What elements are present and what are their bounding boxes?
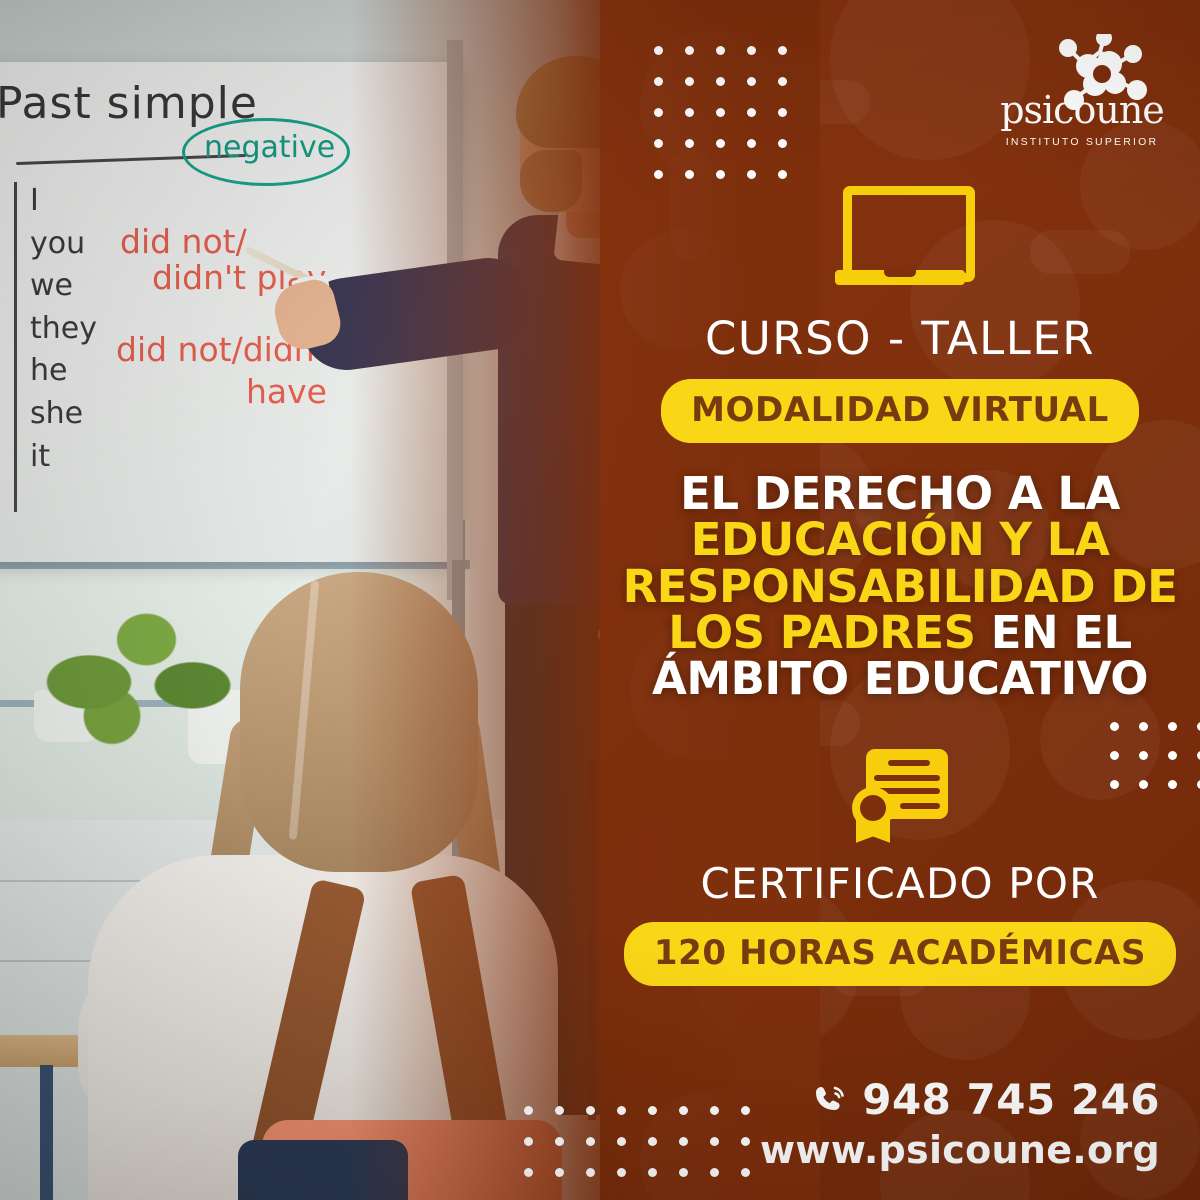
dot bbox=[710, 1106, 719, 1115]
dot bbox=[741, 1106, 750, 1115]
dot bbox=[524, 1137, 533, 1146]
dot bbox=[741, 1137, 750, 1146]
modality-badge: MODALIDAD VIRTUAL bbox=[661, 379, 1139, 443]
dot bbox=[617, 1106, 626, 1115]
hours-badge: 120 HORAS ACADÉMICAS bbox=[624, 922, 1176, 986]
certificate-seal bbox=[852, 787, 894, 829]
certificate-icon bbox=[852, 745, 948, 843]
dot bbox=[679, 1168, 688, 1177]
contact-block: 948 745 246 www.psicoune.org bbox=[760, 1075, 1160, 1172]
dot bbox=[555, 1137, 564, 1146]
dot bbox=[741, 1168, 750, 1177]
headline-line-2: EDUCACIÓN Y LA bbox=[620, 517, 1180, 563]
dot bbox=[617, 1168, 626, 1177]
laptop-notch bbox=[884, 270, 916, 277]
headline-line-4: LOS PADRES EN EL bbox=[620, 610, 1180, 656]
website-url[interactable]: www.psicoune.org bbox=[760, 1128, 1160, 1172]
phone-row[interactable]: 948 745 246 bbox=[760, 1075, 1160, 1124]
dot bbox=[524, 1168, 533, 1177]
dot-grid-bottom bbox=[524, 1106, 750, 1177]
phone-ringing-icon bbox=[810, 1080, 850, 1120]
headline-line-5: ÁMBITO EDUCATIVO bbox=[620, 656, 1180, 702]
page-title: EL DERECHO A LA EDUCACIÓN Y LA RESPONSAB… bbox=[620, 471, 1180, 703]
laptop-screen bbox=[843, 186, 975, 282]
course-kicker: CURSO - TALLER bbox=[620, 312, 1180, 365]
laptop-icon bbox=[835, 186, 965, 290]
certificate-line bbox=[888, 760, 930, 766]
dot bbox=[648, 1137, 657, 1146]
dot bbox=[710, 1137, 719, 1146]
dot bbox=[555, 1106, 564, 1115]
dot bbox=[679, 1106, 688, 1115]
dot bbox=[586, 1106, 595, 1115]
headline-line-1: EL DERECHO A LA bbox=[620, 471, 1180, 517]
dot bbox=[555, 1168, 564, 1177]
dot bbox=[710, 1168, 719, 1177]
certificate-line bbox=[874, 775, 940, 781]
promo-poster: Past simple negative Iyouwetheyhesheit d… bbox=[0, 0, 1200, 1200]
dot bbox=[648, 1168, 657, 1177]
dot bbox=[586, 1168, 595, 1177]
dot bbox=[586, 1137, 595, 1146]
dot bbox=[617, 1137, 626, 1146]
dot bbox=[524, 1106, 533, 1115]
certification-label: CERTIFICADO POR bbox=[620, 859, 1180, 908]
promo-content: CURSO - TALLER MODALIDAD VIRTUAL EL DERE… bbox=[620, 0, 1180, 986]
dot bbox=[679, 1137, 688, 1146]
certificate-line bbox=[900, 803, 940, 809]
phone-number: 948 745 246 bbox=[862, 1075, 1160, 1124]
dot bbox=[648, 1106, 657, 1115]
certificate-seal-inner bbox=[860, 795, 886, 821]
headline-line-3: RESPONSABILIDAD DE bbox=[620, 564, 1180, 610]
